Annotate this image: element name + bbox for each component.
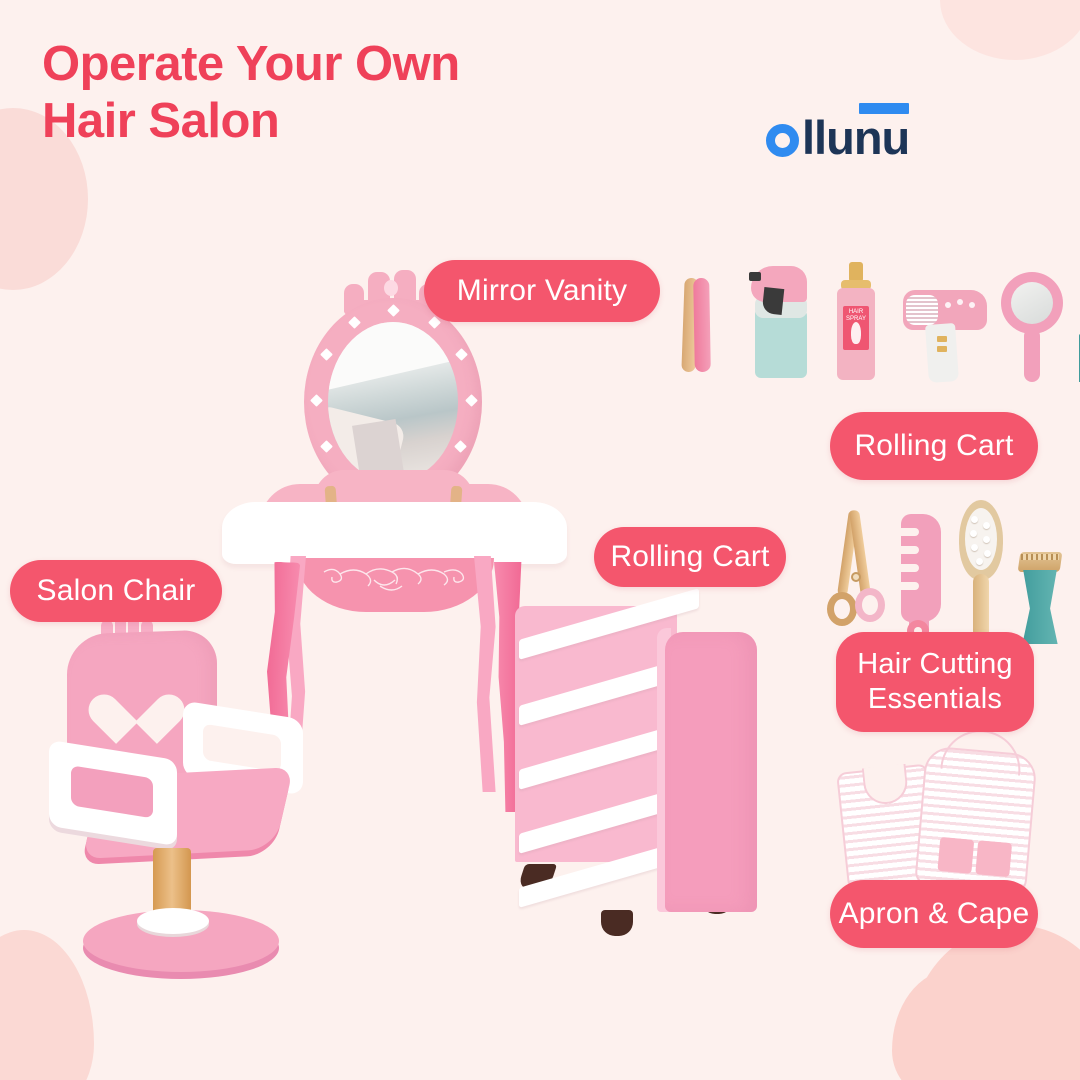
styling-accessories-row: HAIR SPRAY nail polish	[683, 262, 1073, 382]
vanity-mirror-glass	[328, 322, 458, 482]
flat-iron-icon	[683, 278, 711, 372]
logo-o-ring-icon	[766, 124, 799, 157]
hair-spray-label-line2: SPRAY	[846, 316, 866, 322]
hair-brush-icon	[957, 500, 1005, 650]
heart-cutout-icon	[107, 674, 165, 728]
scissors-icon	[827, 510, 889, 640]
label-hair-cutting-essentials[interactable]: Hair Cutting Essentials	[836, 632, 1034, 732]
label-rolling-cart-center[interactable]: Rolling Cart	[594, 527, 786, 587]
chair-base-collar	[137, 908, 209, 934]
vanity-tabletop	[222, 502, 567, 564]
background-blob-bottom-right-2	[892, 970, 1012, 1080]
apron-and-cape-group	[838, 742, 1048, 892]
background-blob-top-right	[940, 0, 1080, 60]
vanity-scrollwork-icon	[314, 564, 476, 594]
logo-bar-icon	[859, 103, 909, 114]
hair-spray-label-line1: HAIR	[849, 309, 863, 315]
spray-bottle-icon	[749, 266, 811, 378]
comb-icon	[897, 514, 943, 640]
cart-caster-2-icon	[601, 910, 633, 936]
page-title: Operate Your Own Hair Salon	[42, 36, 460, 151]
cart-side-panel	[665, 632, 757, 912]
hair-dryer-icon	[903, 290, 987, 382]
label-apron-and-cape[interactable]: Apron & Cape	[830, 880, 1038, 948]
background-blob-bottom-right-1	[910, 925, 1080, 1080]
apron-icon	[914, 745, 1038, 894]
razor-icon	[1017, 552, 1063, 650]
vanity-apron-panel	[296, 558, 494, 612]
hair-spray-can-icon: HAIR SPRAY	[835, 262, 879, 380]
brand-logo: llunu	[766, 112, 909, 158]
logo-wordmark: llunu	[802, 118, 909, 158]
label-salon-chair[interactable]: Salon Chair	[10, 560, 222, 622]
rolling-cart-product	[505, 592, 765, 947]
vanity-leg-back-right	[474, 556, 498, 792]
hand-mirror-icon	[1001, 272, 1063, 382]
hair-cutting-tools-group	[815, 500, 1045, 650]
salon-chair-product	[45, 612, 320, 957]
product-feature-graphic: Operate Your Own Hair Salon llunu	[0, 0, 1080, 1080]
label-mirror-vanity[interactable]: Mirror Vanity	[424, 260, 660, 322]
label-rolling-cart-right[interactable]: Rolling Cart	[830, 412, 1038, 480]
